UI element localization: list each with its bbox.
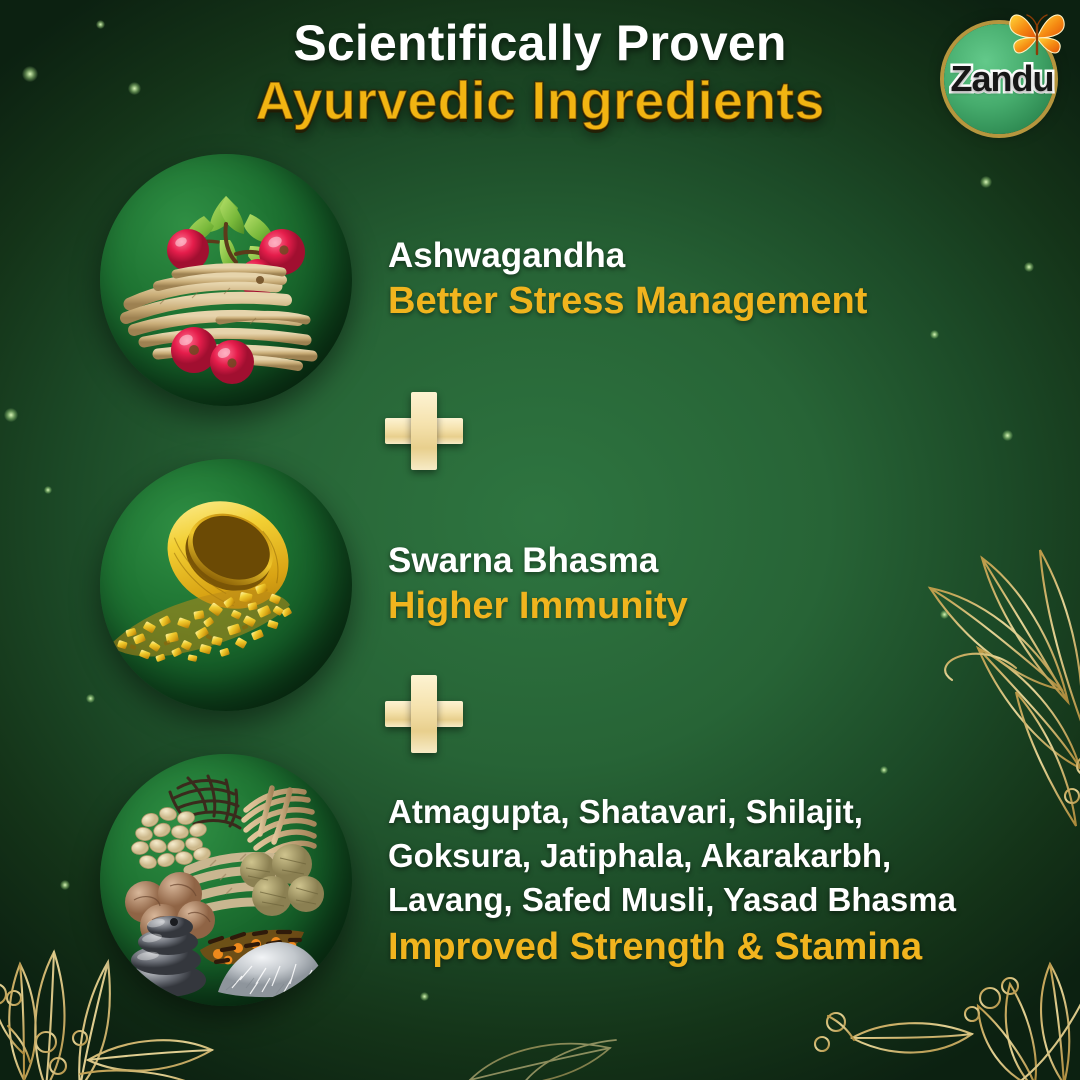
poster-header: Scientifically Proven Ayurvedic Ingredie… [0, 18, 1080, 130]
ashwagandha-roots-berries-icon [100, 154, 352, 406]
ingredient-name-3-line-1: Atmagupta, Shatavari, Shilajit, [388, 790, 956, 834]
ingredient-row-3: Atmagupta, Shatavari, Shilajit, Goksura,… [0, 752, 1080, 1008]
ingredient-text-2: Swarna Bhasma Higher Immunity [388, 540, 688, 630]
ingredient-image-2 [100, 459, 352, 711]
ingredient-image-3 [100, 754, 352, 1006]
mixed-herbs-minerals-icon [100, 754, 352, 1006]
ingredient-text-1: Ashwagandha Better Stress Management [388, 235, 867, 325]
ingredient-benefit-2: Higher Immunity [388, 584, 688, 630]
plus-icon [385, 675, 463, 753]
ingredient-benefit-3: Improved Strength & Stamina [388, 925, 956, 971]
gold-leaf-line-art-icon [460, 1000, 650, 1080]
ingredient-row-2: Swarna Bhasma Higher Immunity [0, 457, 1080, 713]
brand-logo[interactable]: Zandu [932, 6, 1072, 138]
gold-bangle-flakes-icon [100, 459, 352, 711]
ingredient-name-3-line-3: Lavang, Safed Musli, Yasad Bhasma [388, 878, 956, 922]
ingredient-name-1: Ashwagandha [388, 235, 867, 276]
ingredient-name-2: Swarna Bhasma [388, 540, 688, 581]
ingredient-name-3-line-2: Goksura, Jatiphala, Akarakarbh, [388, 834, 956, 878]
poster-canvas: Scientifically Proven Ayurvedic Ingredie… [0, 0, 1080, 1080]
logo-wordmark: Zandu [938, 58, 1066, 100]
ingredient-row-1: Ashwagandha Better Stress Management [0, 152, 1080, 408]
ingredient-benefit-1: Better Stress Management [388, 279, 867, 325]
ingredient-image-1 [100, 154, 352, 406]
ingredient-text-3: Atmagupta, Shatavari, Shilajit, Goksura,… [388, 790, 956, 970]
headline-line-1: Scientifically Proven [0, 18, 1080, 69]
headline-line-2: Ayurvedic Ingredients [0, 73, 1080, 130]
